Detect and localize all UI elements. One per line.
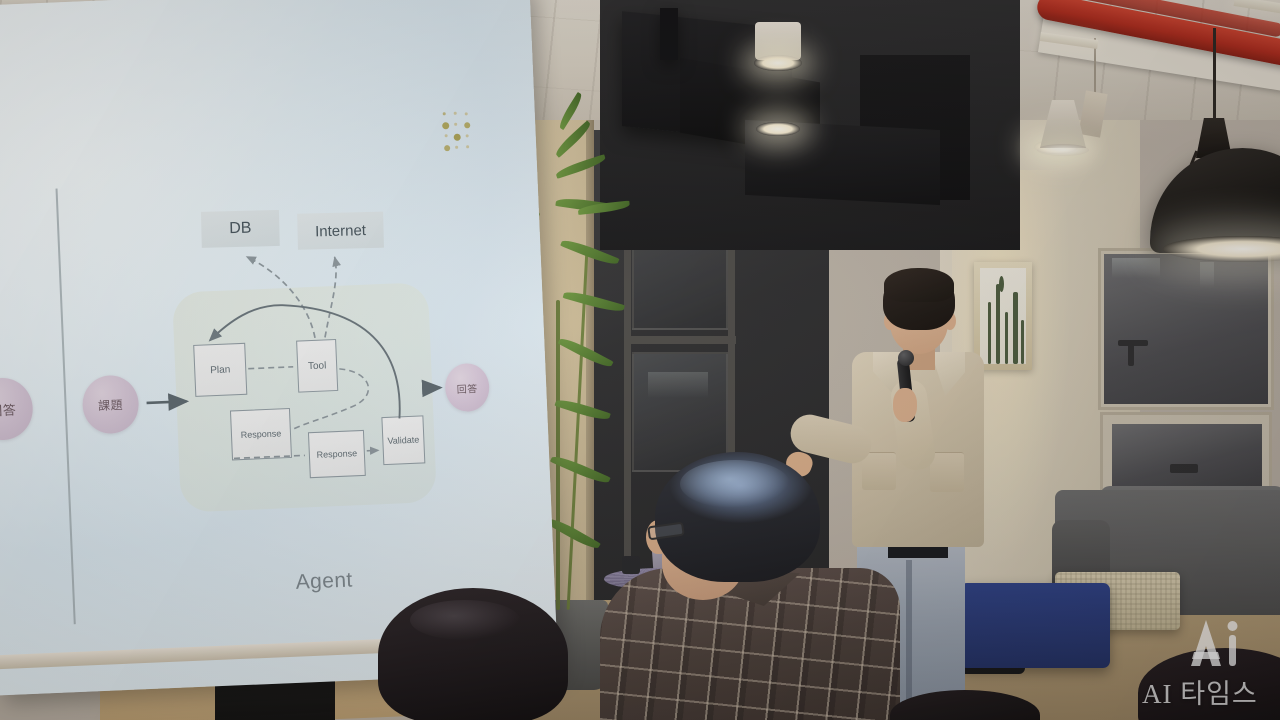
bamboo-stem	[556, 300, 560, 610]
window-mullion	[624, 336, 736, 344]
presenter-jacket-pocket	[930, 452, 964, 492]
blue-ottoman	[960, 583, 1110, 668]
table-charger	[622, 556, 640, 574]
ceiling-light	[754, 55, 802, 71]
window-handle-lower	[1170, 464, 1198, 473]
window-glass-lower	[1112, 424, 1262, 488]
window-reflection	[1200, 262, 1214, 288]
microphone-head	[898, 350, 914, 366]
audience-left-hair-highlight	[410, 600, 520, 640]
presenter-jacket-pocket	[862, 452, 896, 490]
window-handle-upper	[1128, 344, 1134, 366]
pendant-lamp-cord	[1213, 28, 1216, 123]
framed-botanical-picture	[974, 262, 1032, 370]
audience-hair-highlight	[680, 460, 790, 508]
presentation-photo-scene: DB Internet 回答 課題 回答 Plan Tool	[0, 0, 1280, 720]
presenter-jeans-seam	[906, 560, 912, 720]
glass-reflection-strip	[648, 372, 708, 398]
ceiling-light	[756, 122, 800, 136]
presenter-hair-fringe	[884, 268, 954, 302]
av-mount	[660, 8, 678, 60]
window-reflection	[1112, 258, 1160, 278]
small-pendant-glow	[1037, 144, 1089, 156]
presenter-right-hand	[893, 388, 917, 422]
